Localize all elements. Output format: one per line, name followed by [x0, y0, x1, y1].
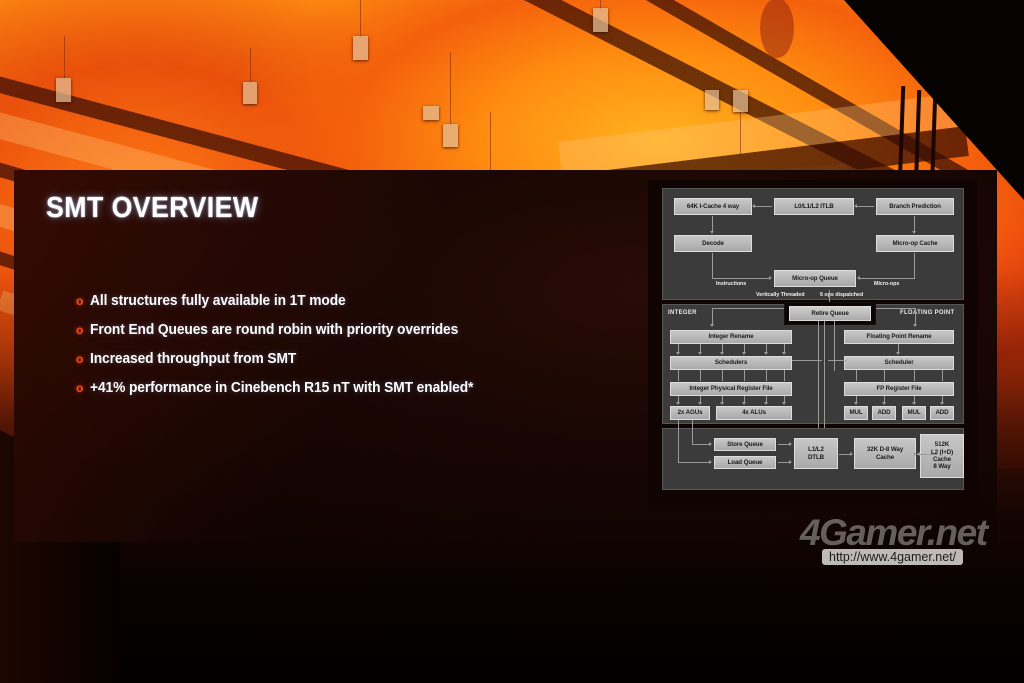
arrow-icon [854, 204, 857, 208]
block-fp-rename: Floating Point Rename [844, 330, 954, 344]
caption-instructions: Instructions [716, 281, 746, 287]
bullet-marker-icon: o [76, 324, 90, 336]
arrow-icon [857, 276, 860, 280]
bullet-text: Front End Queues are round robin with pr… [90, 322, 458, 338]
cpu-block-diagram: 64K I-Cache 4 way L0/L1/L2 ITLB Branch P… [648, 180, 978, 510]
arrow-icon [789, 460, 792, 464]
ceiling-beam [516, 0, 898, 187]
arrow-icon [709, 442, 712, 446]
arrow-icon [752, 204, 755, 208]
connector [829, 290, 830, 302]
connector [692, 420, 693, 444]
watermark: 4Gamer.net http://www.4gamer.net/ [800, 512, 1015, 574]
light-wire [360, 0, 361, 38]
block-fp-mul-1: MUL [902, 406, 926, 420]
bullet-marker-icon: o [76, 353, 90, 365]
watermark-logo: 4Gamer.net [800, 512, 1015, 554]
block-dtlb: L1/L2 DTLB [794, 438, 838, 469]
ceiling-light [56, 78, 71, 102]
block-fp-mul-0: MUL [844, 406, 868, 420]
ceiling-light [705, 90, 719, 110]
connector [860, 278, 915, 279]
bullet-text: +41% performance in Cinebench R15 nT wit… [90, 380, 473, 396]
ceiling-light [243, 82, 257, 104]
light-wire [450, 52, 451, 126]
light-wire [250, 48, 251, 84]
ceiling-light [423, 106, 439, 120]
arrow-icon [769, 276, 772, 280]
float-section-label: FLOATING POINT [900, 310, 954, 316]
connector [692, 444, 710, 445]
block-integer-rename: Integer Rename [670, 330, 792, 344]
block-retire-queue: Retire Queue [789, 306, 871, 321]
arrow-icon [710, 231, 714, 234]
wall-speaker [760, 0, 794, 58]
block-l1-dcache: 32K D-8 Way Cache [854, 438, 916, 469]
bullet-text: All structures fully available in 1T mod… [90, 293, 346, 309]
connector [712, 253, 713, 279]
connector [914, 253, 915, 279]
caption-microops: Micro-ops [874, 281, 899, 287]
block-microop-cache: Micro-op Cache [876, 235, 954, 252]
connector [754, 206, 772, 207]
connector [678, 420, 679, 462]
presentation-slide: SMT OVERVIEW o All structures fully avai… [14, 170, 997, 542]
arrow-icon [912, 231, 916, 234]
connector [712, 308, 784, 309]
connector [712, 278, 770, 279]
block-alus: 4x ALUs [716, 406, 792, 420]
light-wire [64, 36, 65, 80]
connector [828, 360, 846, 361]
light-wire [740, 102, 741, 154]
list-item: o +41% performance in Cinebench R15 nT w… [76, 380, 596, 396]
connector [876, 308, 916, 309]
list-item: o Front End Queues are round robin with … [76, 322, 596, 338]
block-schedulers: Schedulers [670, 356, 792, 370]
block-integer-prf: Integer Physical Register File [670, 382, 792, 396]
integer-section-label: INTEGER [668, 310, 697, 316]
light-wire [600, 0, 601, 10]
block-fp-add-1: ADD [930, 406, 954, 420]
watermark-url: http://www.4gamer.net/ [822, 549, 963, 565]
block-fp-scheduler: Scheduler [844, 356, 954, 370]
block-agus: 2x AGUs [670, 406, 710, 420]
ceiling-light [353, 36, 368, 60]
bullet-marker-icon: o [76, 295, 90, 307]
block-fp-add-0: ADD [872, 406, 896, 420]
block-icache: 64K I-Cache 4 way [674, 198, 752, 215]
arrow-icon [789, 442, 792, 446]
block-microop-queue: Micro-op Queue [774, 270, 856, 287]
connector [834, 321, 835, 371]
ceiling-beam [558, 93, 959, 175]
connector [678, 462, 710, 463]
block-fp-register-file: FP Register File [844, 382, 954, 396]
bullet-list: o All structures fully available in 1T m… [76, 293, 596, 409]
ceiling-light [593, 8, 608, 32]
list-item: o Increased throughput from SMT [76, 351, 596, 367]
bullet-text: Increased throughput from SMT [90, 351, 296, 367]
arrow-icon [913, 324, 917, 327]
block-decode: Decode [674, 235, 752, 252]
list-item: o All structures fully available in 1T m… [76, 293, 596, 309]
block-branch-prediction: Branch Prediction [876, 198, 954, 215]
slide-title: SMT OVERVIEW [46, 192, 259, 225]
connector [914, 216, 915, 232]
connector [792, 360, 822, 361]
connector [712, 216, 713, 232]
block-l2-cache: 512K L2 (I+D) Cache 8 Way [920, 434, 964, 478]
arrow-icon [850, 452, 853, 456]
bullet-marker-icon: o [76, 382, 90, 394]
block-itlb: L0/L1/L2 ITLB [774, 198, 854, 215]
block-load-queue: Load Queue [714, 456, 776, 469]
connector [856, 206, 874, 207]
caption-vertically-threaded: Vertically Threaded [756, 292, 805, 298]
arrow-icon [710, 324, 714, 327]
arrow-icon [709, 460, 712, 464]
caption-ops-dispatched: 6 ops dispatched [820, 292, 863, 298]
ceiling-light [443, 124, 458, 147]
ceiling-light [733, 90, 748, 112]
connector [917, 454, 937, 455]
block-store-queue: Store Queue [714, 438, 776, 451]
